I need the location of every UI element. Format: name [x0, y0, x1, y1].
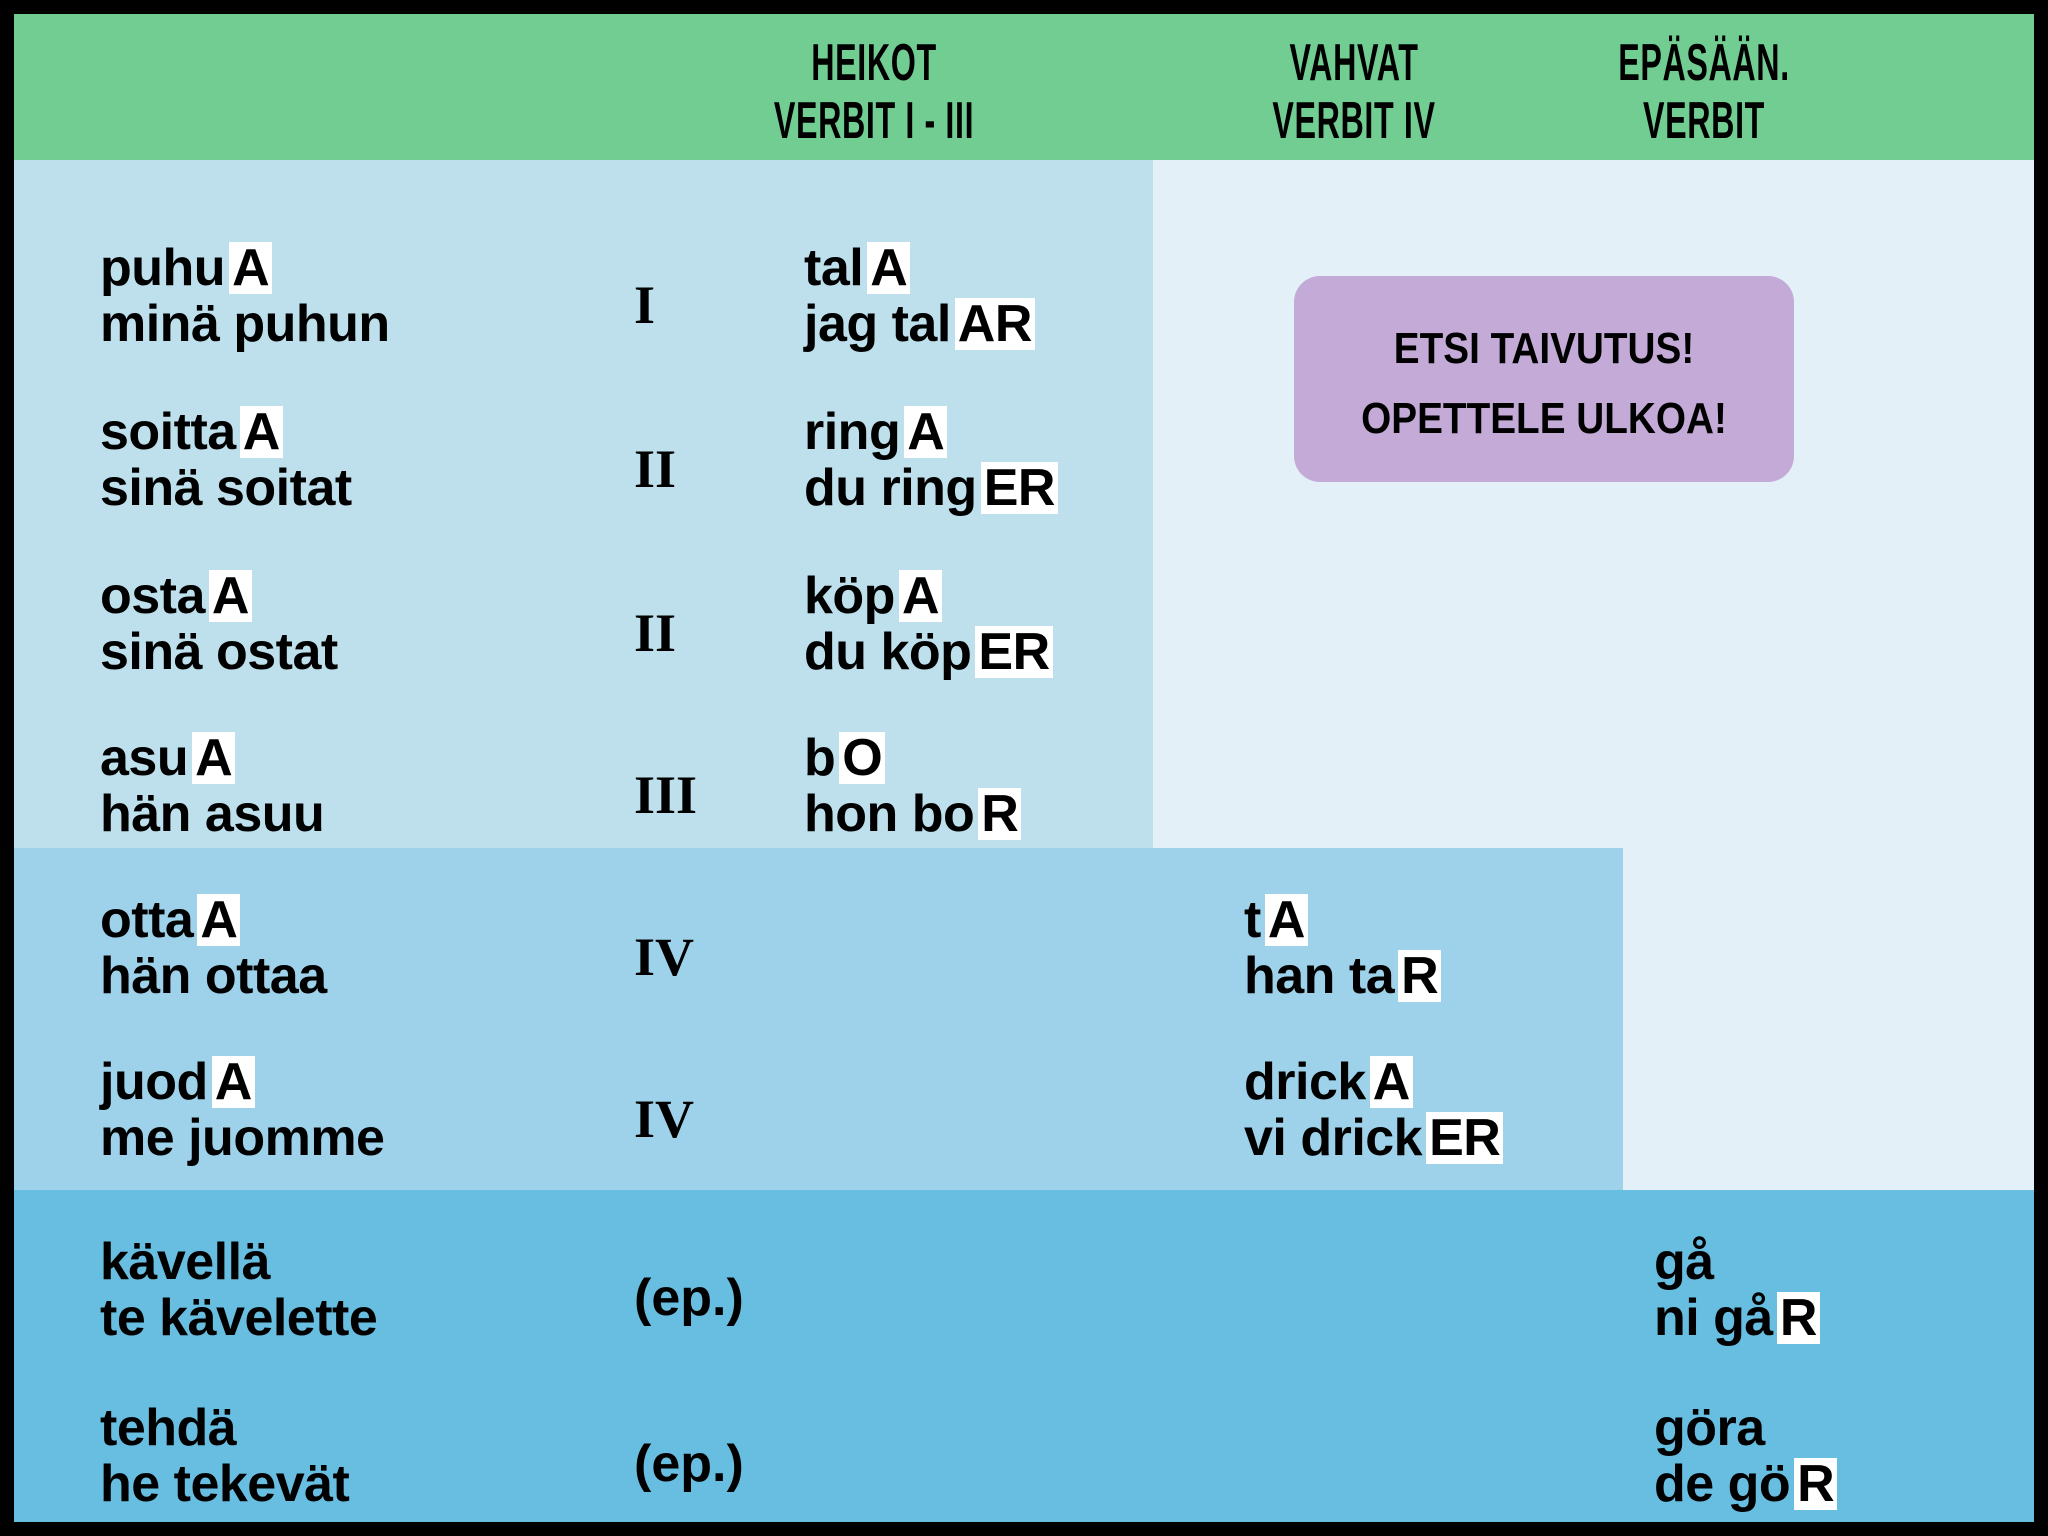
swedish-weak-verb-1-conjugated: jag talAR: [804, 298, 1035, 350]
swedish-irregular-verb-8-infinitive-stem: göra: [1654, 1399, 1765, 1457]
swedish-strong-verb-5-conjugated-suffix-highlight: R: [1398, 950, 1441, 1002]
verb-type-numeral-3: II: [634, 602, 794, 664]
table-header: HEIKOT VERBIT I - III VAHVAT VERBIT IV E…: [14, 14, 2034, 160]
swedish-strong-verb-5-infinitive: tA: [1244, 894, 1441, 946]
swedish-weak-verb-4-infinitive-suffix-highlight: O: [839, 732, 885, 784]
swedish-weak-verb-1: talAjag talAR: [804, 242, 1035, 350]
note-line-1: ETSI TAIVUTUS!: [1324, 324, 1764, 374]
finnish-verb-3-infinitive: ostaA: [100, 570, 338, 622]
finnish-verb-4: asuAhän asuu: [100, 732, 324, 840]
finnish-verb-6-conjugated: me juomme: [100, 1112, 384, 1164]
finnish-verb-8-infinitive: tehdä: [100, 1402, 349, 1454]
swedish-strong-verb-6-conjugated: vi drickER: [1244, 1112, 1503, 1164]
finnish-verb-4-conjugated-stem: hän asuu: [100, 785, 324, 843]
finnish-verb-4-infinitive-suffix-highlight: A: [192, 732, 235, 784]
swedish-weak-verb-4-infinitive: bO: [804, 732, 1021, 784]
swedish-irregular-verb-7-infinitive-stem: gå: [1654, 1233, 1714, 1291]
verb-type-numeral-6: IV: [634, 1088, 794, 1150]
finnish-verb-2-infinitive-stem: soitta: [100, 403, 236, 461]
verb-type-numeral-8: (ep.): [634, 1434, 794, 1494]
swedish-weak-verb-4: bOhon boR: [804, 732, 1021, 840]
finnish-verb-2-conjugated-stem: sinä soitat: [100, 459, 352, 517]
finnish-verb-8: tehdähe tekevät: [100, 1402, 349, 1510]
swedish-weak-verb-1-conjugated-suffix-highlight: AR: [955, 298, 1035, 350]
verb-type-numeral-1: I: [634, 274, 794, 336]
finnish-verb-6-infinitive-suffix-highlight: A: [212, 1056, 255, 1108]
swedish-irregular-verb-8-conjugated: de göR: [1654, 1458, 1837, 1510]
finnish-verb-2-infinitive: soittaA: [100, 406, 352, 458]
swedish-strong-verb-5-conjugated-stem: han ta: [1244, 947, 1394, 1005]
swedish-weak-verb-1-infinitive-suffix-highlight: A: [867, 242, 910, 294]
verb-type-numeral-7: (ep.): [634, 1268, 794, 1328]
swedish-weak-verb-2-infinitive-stem: ring: [804, 403, 900, 461]
header-weak-line2: VERBIT I - III: [601, 92, 1147, 150]
swedish-irregular-verb-7-conjugated: ni gåR: [1654, 1292, 1820, 1344]
finnish-verb-3-conjugated-stem: sinä ostat: [100, 623, 338, 681]
finnish-verb-7-conjugated-stem: te kävelette: [100, 1289, 377, 1347]
swedish-weak-verb-1-infinitive: talA: [804, 242, 1035, 294]
swedish-weak-verb-3-infinitive: köpA: [804, 570, 1053, 622]
swedish-weak-verb-1-infinitive-stem: tal: [804, 239, 863, 297]
swedish-strong-verb-6-infinitive: drickA: [1244, 1056, 1503, 1108]
swedish-weak-verb-2-infinitive-suffix-highlight: A: [904, 406, 947, 458]
finnish-verb-1-infinitive-stem: puhu: [100, 239, 225, 297]
finnish-verb-1-infinitive-suffix-highlight: A: [229, 242, 272, 294]
swedish-irregular-verb-7-infinitive: gå: [1654, 1236, 1820, 1288]
swedish-irregular-verb-8-conjugated-stem: de gö: [1654, 1455, 1790, 1513]
swedish-weak-verb-4-conjugated-stem: hon bo: [804, 785, 974, 843]
finnish-verb-5-infinitive: ottaA: [100, 894, 327, 946]
swedish-weak-verb-2-conjugated: du ringER: [804, 462, 1058, 514]
finnish-verb-7-infinitive-stem: kävellä: [100, 1233, 270, 1291]
verb-type-numeral-4: III: [634, 764, 794, 826]
finnish-verb-6-infinitive-stem: juod: [100, 1053, 208, 1111]
swedish-strong-verb-5-infinitive-suffix-highlight: A: [1265, 894, 1308, 946]
finnish-verb-7: kävelläte kävelette: [100, 1236, 377, 1344]
finnish-verb-8-conjugated-stem: he tekevät: [100, 1455, 349, 1513]
swedish-weak-verb-2-conjugated-suffix-highlight: ER: [981, 462, 1058, 514]
swedish-strong-verb-5-infinitive-stem: t: [1244, 891, 1261, 949]
header-irregular-verbs: EPÄSÄÄN. VERBIT: [1456, 34, 1952, 150]
finnish-verb-6-conjugated-stem: me juomme: [100, 1109, 384, 1167]
swedish-strong-verb-6-conjugated-suffix-highlight: ER: [1426, 1112, 1503, 1164]
swedish-weak-verb-4-conjugated: hon boR: [804, 788, 1021, 840]
swedish-irregular-verb-8-infinitive: göra: [1654, 1402, 1837, 1454]
swedish-strong-verb-6-infinitive-suffix-highlight: A: [1370, 1056, 1413, 1108]
swedish-weak-verb-3-infinitive-suffix-highlight: A: [899, 570, 942, 622]
finnish-verb-5-infinitive-stem: otta: [100, 891, 193, 949]
swedish-strong-verb-6-conjugated-stem: vi drick: [1244, 1109, 1422, 1167]
finnish-verb-7-conjugated: te kävelette: [100, 1292, 377, 1344]
finnish-verb-8-conjugated: he tekevät: [100, 1458, 349, 1510]
finnish-verb-2: soittaAsinä soitat: [100, 406, 352, 514]
finnish-verb-5: ottaAhän ottaa: [100, 894, 327, 1002]
swedish-irregular-verb-7-conjugated-stem: ni gå: [1654, 1289, 1773, 1347]
finnish-verb-4-infinitive-stem: asu: [100, 729, 188, 787]
finnish-verb-3-infinitive-suffix-highlight: A: [209, 570, 252, 622]
finnish-verb-5-conjugated-stem: hän ottaa: [100, 947, 327, 1005]
header-weak-line1: HEIKOT: [601, 34, 1147, 92]
finnish-verb-3: ostaAsinä ostat: [100, 570, 338, 678]
swedish-irregular-verb-7-conjugated-suffix-highlight: R: [1777, 1292, 1820, 1344]
verb-conjugation-table: HEIKOT VERBIT I - III VAHVAT VERBIT IV E…: [14, 14, 2034, 1522]
finnish-verb-3-conjugated: sinä ostat: [100, 626, 338, 678]
verb-type-numeral-5: IV: [634, 926, 794, 988]
swedish-strong-verb-5-conjugated: han taR: [1244, 950, 1441, 1002]
swedish-weak-verb-3-conjugated-suffix-highlight: ER: [975, 626, 1052, 678]
finnish-verb-5-infinitive-suffix-highlight: A: [197, 894, 240, 946]
swedish-weak-verb-2-infinitive: ringA: [804, 406, 1058, 458]
swedish-strong-verb-6: drickAvi drickER: [1244, 1056, 1503, 1164]
swedish-weak-verb-1-conjugated-stem: jag tal: [804, 295, 951, 353]
header-irregular-line1: EPÄSÄÄN.: [1456, 34, 1952, 92]
finnish-verb-2-conjugated: sinä soitat: [100, 462, 352, 514]
finnish-verb-8-infinitive-stem: tehdä: [100, 1399, 236, 1457]
swedish-weak-verb-2: ringAdu ringER: [804, 406, 1058, 514]
note-line-2: OPETTELE ULKOA!: [1324, 394, 1764, 444]
image-frame: HEIKOT VERBIT I - III VAHVAT VERBIT IV E…: [0, 0, 2048, 1536]
swedish-weak-verb-4-conjugated-suffix-highlight: R: [978, 788, 1021, 840]
swedish-weak-verb-3-infinitive-stem: köp: [804, 567, 895, 625]
swedish-irregular-verb-7: gåni gåR: [1654, 1236, 1820, 1344]
swedish-irregular-verb-8: görade göR: [1654, 1402, 1837, 1510]
finnish-verb-1-conjugated: minä puhun: [100, 298, 390, 350]
header-weak-verbs: HEIKOT VERBIT I - III: [601, 34, 1147, 150]
header-irregular-line2: VERBIT: [1456, 92, 1952, 150]
finnish-verb-4-infinitive: asuA: [100, 732, 324, 784]
finnish-verb-1-conjugated-stem: minä puhun: [100, 295, 390, 353]
swedish-strong-verb-6-infinitive-stem: drick: [1244, 1053, 1366, 1111]
finnish-verb-2-infinitive-suffix-highlight: A: [240, 406, 283, 458]
swedish-weak-verb-3: köpAdu köpER: [804, 570, 1053, 678]
finnish-verb-1: puhuAminä puhun: [100, 242, 390, 350]
verb-type-numeral-2: II: [634, 438, 794, 500]
swedish-weak-verb-3-conjugated-stem: du köp: [804, 623, 971, 681]
finnish-verb-4-conjugated: hän asuu: [100, 788, 324, 840]
swedish-weak-verb-3-conjugated: du köpER: [804, 626, 1053, 678]
swedish-weak-verb-4-infinitive-stem: b: [804, 729, 835, 787]
finnish-verb-6: juodAme juomme: [100, 1056, 384, 1164]
finnish-verb-3-infinitive-stem: osta: [100, 567, 205, 625]
finnish-verb-7-infinitive: kävellä: [100, 1236, 377, 1288]
finnish-verb-6-infinitive: juodA: [100, 1056, 384, 1108]
swedish-weak-verb-2-conjugated-stem: du ring: [804, 459, 977, 517]
study-note-box: ETSI TAIVUTUS! OPETTELE ULKOA!: [1294, 276, 1794, 482]
finnish-verb-1-infinitive: puhuA: [100, 242, 390, 294]
finnish-verb-5-conjugated: hän ottaa: [100, 950, 327, 1002]
swedish-irregular-verb-8-conjugated-suffix-highlight: R: [1794, 1458, 1837, 1510]
swedish-strong-verb-5: tAhan taR: [1244, 894, 1441, 1002]
